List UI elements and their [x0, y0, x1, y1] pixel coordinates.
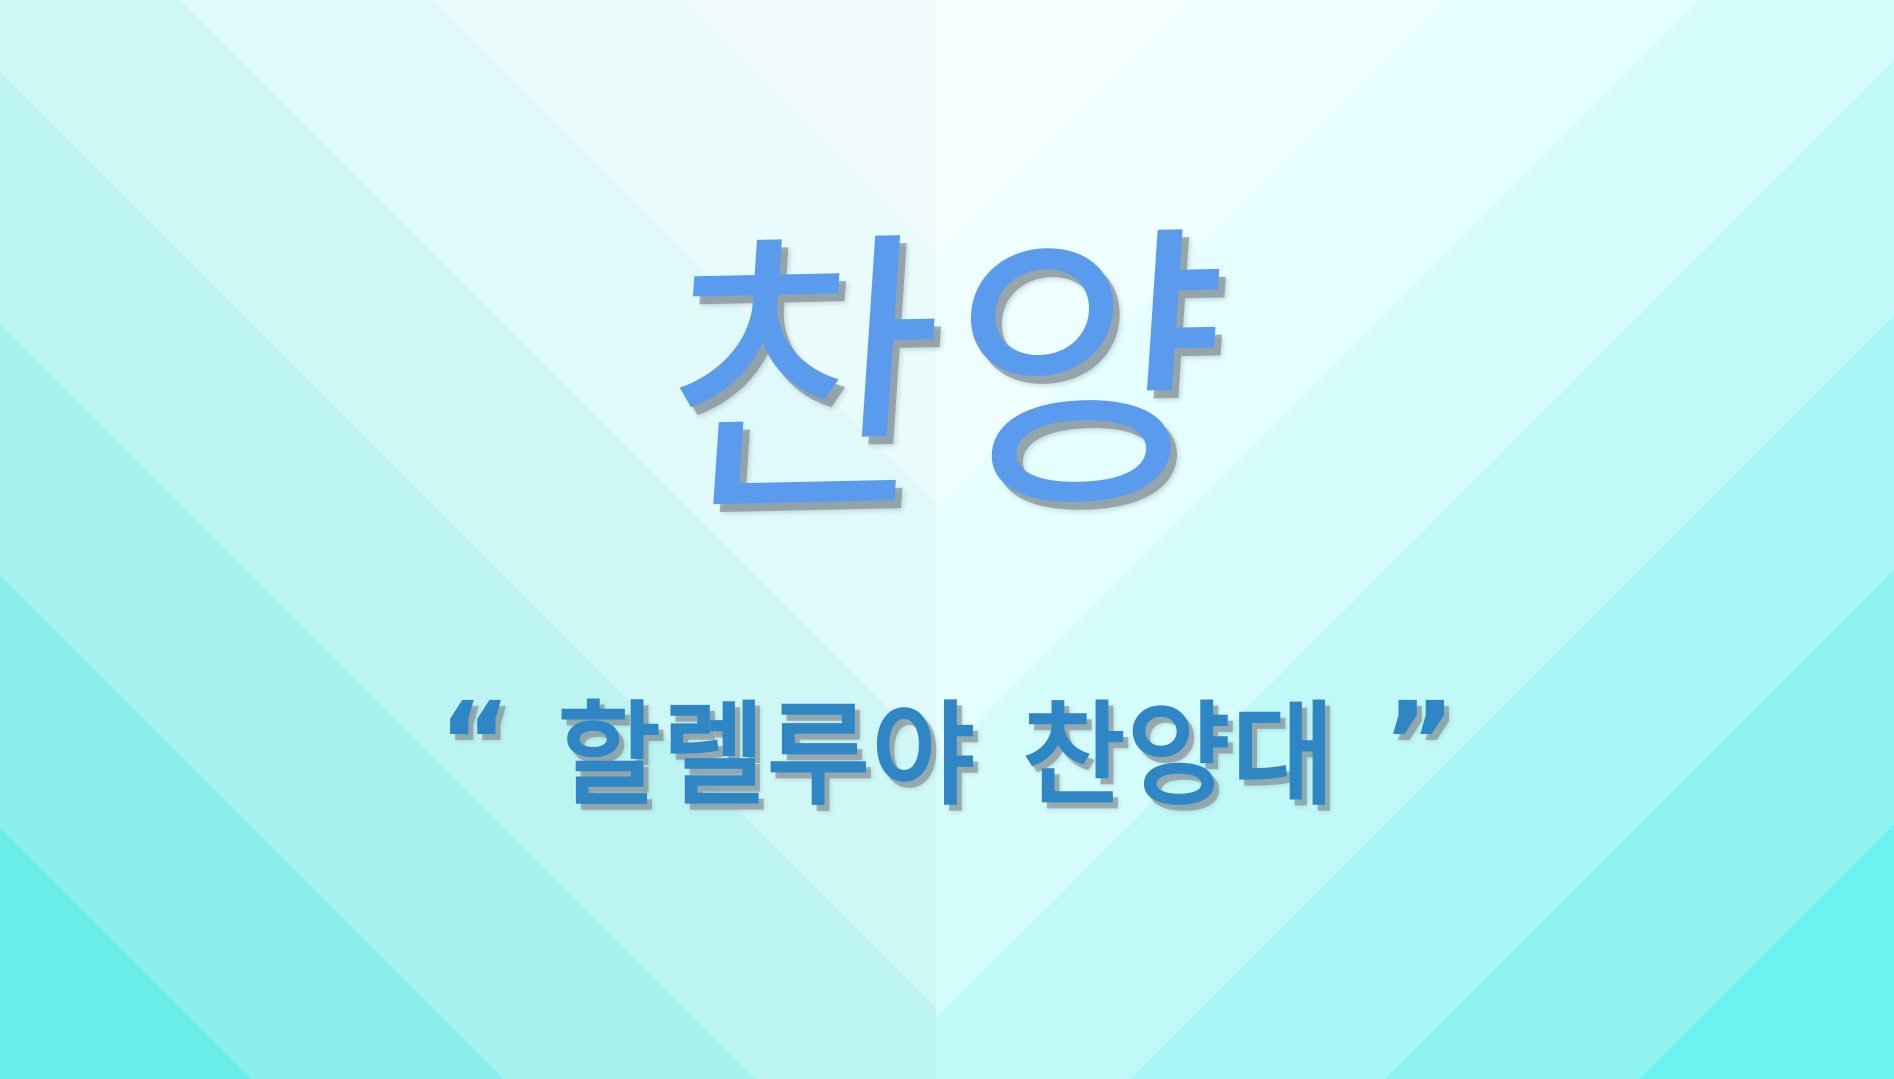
open-quote-icon: “: [439, 687, 511, 797]
subtitle-word-hallelujah: 할렐루야: [557, 691, 976, 821]
close-quote-icon: ”: [1383, 687, 1455, 797]
subtitle-word-choir: 찬양대: [1022, 691, 1336, 821]
title-block: 찬양: [0, 232, 1894, 526]
subtitle-block: “ 할렐루야찬양대 ”: [0, 700, 1894, 812]
title-slide: 찬양 “ 할렐루야찬양대 ”: [0, 0, 1894, 1079]
page-title: 찬양: [655, 226, 1239, 532]
subtitle-text: 할렐루야찬양대: [557, 700, 1336, 812]
